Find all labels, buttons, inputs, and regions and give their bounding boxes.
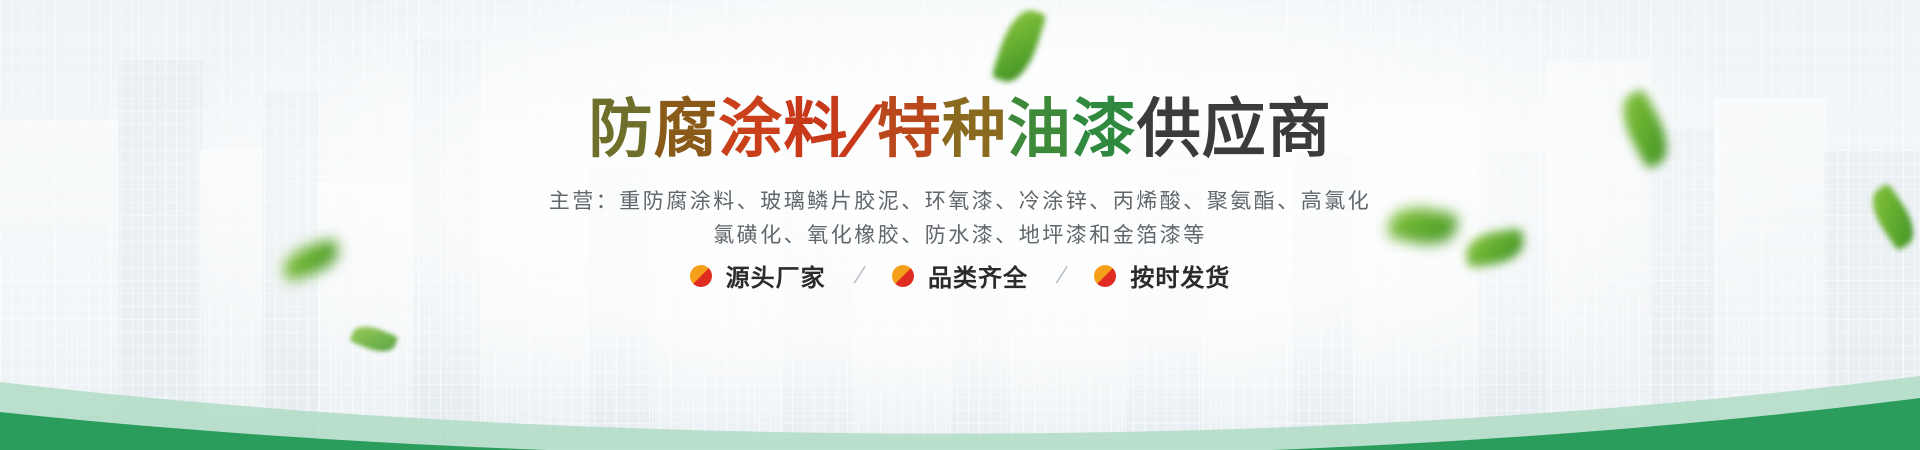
banner-subtitle-line-1: 主营：重防腐涂料、玻璃鳞片胶泥、环氧漆、冷涂锌、丙烯酸、聚氨酯、高氯化: [0, 184, 1920, 218]
title-char-7: 油: [1007, 95, 1072, 165]
title-char-5: 特: [877, 95, 942, 165]
promo-banner: 防腐涂料/特种油漆供应商 主营：重防腐涂料、玻璃鳞片胶泥、环氧漆、冷涂锌、丙烯酸…: [0, 0, 1920, 450]
title-char-10: 应: [1202, 95, 1267, 165]
feature-separator-2: /: [1026, 262, 1097, 289]
split-circle-icon: [1094, 265, 1116, 287]
feature-item-3[interactable]: 按时发货: [1094, 258, 1230, 293]
title-char-8: 漆: [1072, 95, 1137, 165]
feature-label-1: 源头厂家: [726, 258, 826, 293]
feature-label-3: 按时发货: [1130, 258, 1230, 293]
title-char-2: 涂: [718, 95, 783, 165]
feature-separator-1: /: [823, 262, 894, 289]
feature-item-2[interactable]: 品类齐全: [892, 258, 1028, 293]
banner-title: 防腐涂料/特种油漆供应商: [0, 95, 1920, 165]
feature-label-2: 品类齐全: [928, 258, 1028, 293]
title-char-11: 商: [1267, 95, 1332, 165]
banner-subtitle-line-2: 氯磺化、氧化橡胶、防水漆、地坪漆和金箔漆等: [0, 218, 1920, 252]
banner-content: 防腐涂料/特种油漆供应商 主营：重防腐涂料、玻璃鳞片胶泥、环氧漆、冷涂锌、丙烯酸…: [0, 0, 1920, 450]
split-circle-icon: [690, 265, 712, 287]
feature-list: 源头厂家/品类齐全/按时发货: [0, 258, 1920, 293]
title-char-1: 腐: [653, 95, 718, 165]
title-char-0: 防: [588, 95, 653, 165]
title-char-9: 供: [1137, 95, 1202, 165]
title-char-6: 种: [942, 95, 1007, 165]
feature-item-1[interactable]: 源头厂家: [690, 258, 826, 293]
title-char-3: 料: [783, 95, 848, 165]
split-circle-icon: [892, 265, 914, 287]
